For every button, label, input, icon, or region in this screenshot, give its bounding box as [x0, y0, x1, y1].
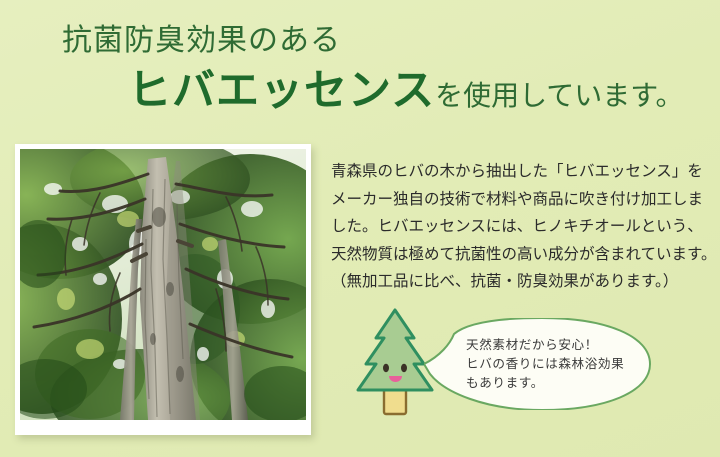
headline-line-2: ヒバエッセンスを使用しています。 [128, 68, 684, 121]
body-line-2: メーカー独自の技術で材料や商品に吹き付け加工しま [331, 186, 720, 214]
tree-photo-image [20, 149, 306, 420]
photo-frame [15, 144, 311, 435]
headline-line-1: 抗菌防臭効果のある [62, 24, 341, 58]
body-line-4: 天然物質は極めて抗菌性の高い成分が含まれています。 [331, 241, 720, 269]
bubble-line-1: 天然素材だから安心！ [466, 335, 652, 354]
mascot-eye-left [383, 364, 389, 372]
speech-bubble: 天然素材だから安心！ ヒバの香りには森林浴効果 もあります。 [424, 318, 656, 410]
promo-banner: 抗菌防臭効果のある ヒバエッセンスを使用しています。 [0, 0, 720, 457]
bubble-line-3: もあります。 [466, 373, 652, 392]
headline-emphasis: ヒバエッセンス [128, 68, 435, 115]
body-line-5: （無加工品に比べ、抗菌・防臭効果があります。） [331, 268, 720, 296]
body-paragraph: 青森県のヒバの木から抽出した「ヒバエッセンス」を メーカー独自の技術で材料や商品… [331, 158, 720, 296]
body-line-1: 青森県のヒバの木から抽出した「ヒバエッセンス」を [331, 158, 720, 186]
speech-bubble-text: 天然素材だから安心！ ヒバの香りには森林浴効果 もあります。 [466, 335, 652, 392]
headline-suffix: を使用しています。 [435, 81, 683, 112]
body-line-3: した。ヒバエッセンスには、ヒノキチオールという、 [331, 213, 720, 241]
mascot-eye-right [401, 364, 407, 372]
bubble-line-2: ヒバの香りには森林浴効果 [466, 354, 652, 373]
tree-photo [20, 149, 306, 420]
